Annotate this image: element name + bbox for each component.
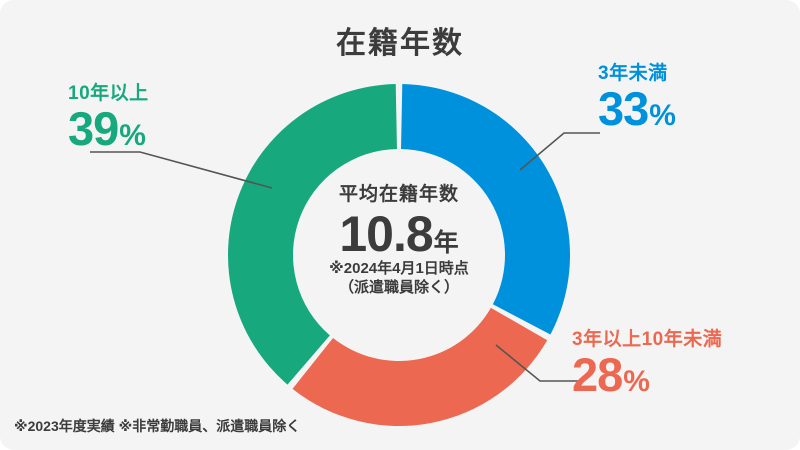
donut-slice-3[interactable] [228,84,397,385]
callout-under-3-years-value: 33 [598,85,648,132]
callout-over-10-years: 10年以上 39 % [68,84,149,152]
callout-3-to-10-years-percent-sign: % [623,367,650,397]
donut-slice-1[interactable] [401,84,570,334]
callout-under-3-years-percent-sign: % [649,101,676,131]
callout-3-to-10-years-value-row: 28 % [572,351,722,398]
callout-under-3-years-value-row: 33 % [598,85,676,132]
donut-chart-svg [228,84,570,426]
infographic-canvas: 在籍年数 平均在籍年数 10.8 年 ※2024年4月1日時点 （派遣職員除く）… [0,0,800,450]
callout-under-3-years: 3年未満 33 % [598,64,676,132]
callout-over-10-years-value: 39 [68,105,118,152]
donut-chart [228,84,570,426]
footnote: ※2023年度実績 ※非常勤職員、派遣職員除く [14,416,300,436]
donut-slice-2[interactable] [293,308,548,426]
callout-3-to-10-years: 3年以上10年未満 28 % [572,330,722,398]
callout-over-10-years-percent-sign: % [119,121,146,151]
callout-over-10-years-value-row: 39 % [68,105,149,152]
callout-3-to-10-years-value: 28 [572,351,622,398]
page-title: 在籍年数 [0,18,800,62]
